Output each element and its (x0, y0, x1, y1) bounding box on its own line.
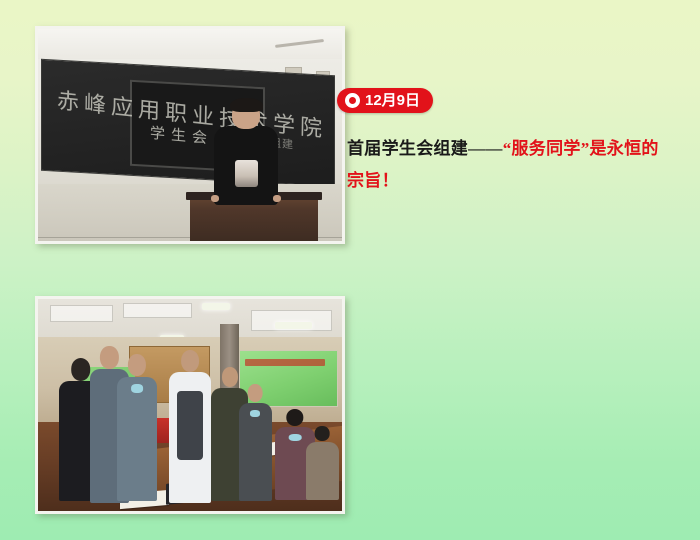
photo-ceiling-tile (50, 305, 113, 322)
classroom-assembly-photo: 赤峰应用职业技术学院 学生会 组建 (38, 29, 342, 241)
entry-photo-card[interactable]: 赤峰应用职业技术学院 学生会 组建 (35, 26, 345, 244)
photo-speaker-hair (230, 98, 263, 112)
photo-speaker-figure (214, 101, 278, 203)
photo-face-mask (250, 410, 260, 417)
date-badge-label: 12月9日 (365, 93, 420, 108)
registration-hall-photo (38, 299, 342, 511)
photo-screen-banner (245, 359, 325, 366)
entry-photo-card[interactable] (35, 296, 345, 514)
photo-person-head (100, 346, 118, 369)
photo-blackboard: 赤峰应用职业技术学院 学生会 组建 (41, 59, 335, 188)
date-badge[interactable]: 12月9日 (337, 88, 433, 113)
photo-face-mask (289, 434, 302, 441)
photo-person-body (306, 442, 339, 500)
timeline-page: 赤峰应用职业技术学院 学生会 组建 (0, 0, 700, 540)
photo-person-head (315, 426, 330, 440)
photo-person-head (248, 384, 263, 402)
photo-person-body (117, 377, 157, 501)
photo-person-vest (177, 391, 203, 459)
caption-lead-text: 首届学生会组建—— (347, 139, 503, 158)
photo-speaker-torso (214, 126, 278, 205)
photo-person-standing (169, 350, 212, 498)
photo-person-head (71, 358, 91, 380)
photo-speaker-hand (211, 195, 219, 202)
photo-ceiling-light (202, 303, 229, 309)
photo-person-head (181, 350, 199, 372)
photo-person-standing (117, 354, 157, 498)
photo-person-seated (306, 426, 339, 498)
entry-caption: 首届学生会组建——“服务同学”是永恒的宗旨！ (347, 133, 669, 197)
photo-ceiling-tile (123, 303, 192, 318)
photo-face-mask (131, 384, 143, 393)
photo-person-head (286, 409, 303, 426)
photo-person-head (128, 354, 146, 376)
photo-person-head (221, 367, 237, 387)
record-circle-icon (345, 93, 360, 108)
photo-sweater-graphic (235, 160, 258, 187)
photo-ceiling-light (275, 322, 311, 328)
photo-person-standing (239, 384, 272, 498)
photo-person-body (239, 403, 272, 500)
